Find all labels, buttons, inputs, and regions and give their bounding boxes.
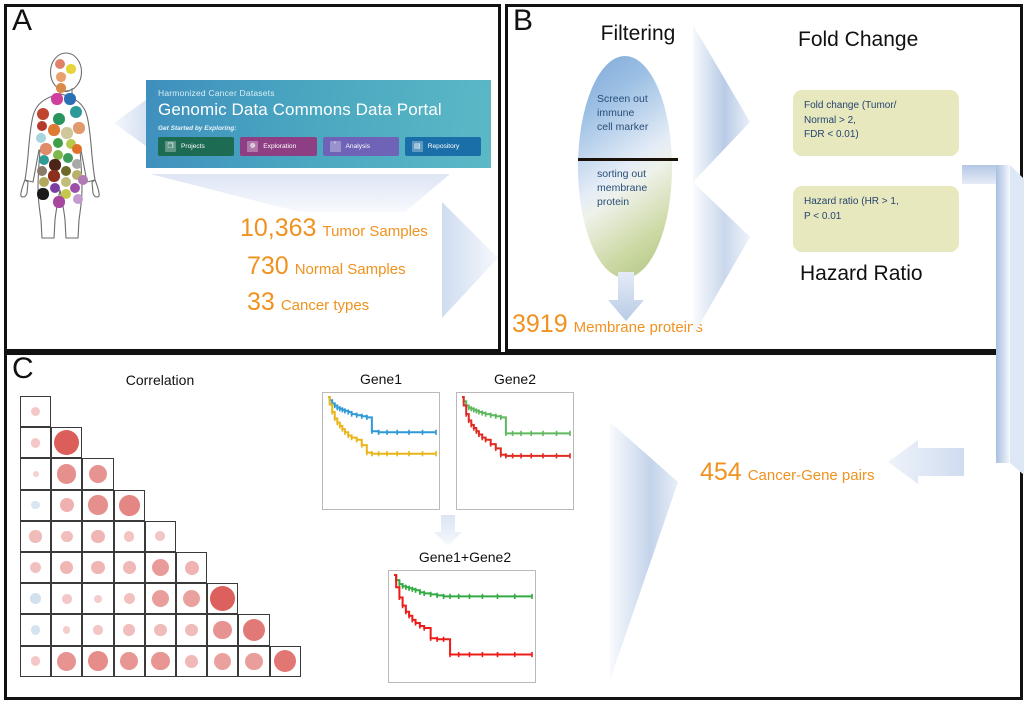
filtering-title: Filtering <box>578 22 698 46</box>
correlation-cell <box>51 427 82 458</box>
correlation-dot <box>155 531 165 541</box>
portal-button-label: Exploration <box>263 143 296 150</box>
correlation-cell <box>20 583 51 614</box>
km-title-gene2: Gene2 <box>456 371 574 387</box>
correlation-dot <box>88 495 107 514</box>
km-curve <box>394 575 532 596</box>
correlation-cell <box>51 521 82 552</box>
correlation-dot <box>245 653 262 670</box>
km-plot-gene2 <box>456 392 574 510</box>
km-curves <box>457 393 573 509</box>
correlation-dot <box>54 430 79 455</box>
correlation-dot <box>123 624 135 636</box>
correlation-cell <box>207 583 238 614</box>
correlation-dot <box>124 593 135 604</box>
cancer-site-dot <box>53 196 64 207</box>
correlation-dot <box>33 471 39 477</box>
chevron-filter-to-criteria <box>690 22 752 340</box>
portal-button-exploration[interactable]: ☸Exploration <box>240 137 316 156</box>
filtering-ellipse <box>578 56 672 278</box>
correlation-cell <box>20 396 51 427</box>
correlation-title: Correlation <box>80 372 240 388</box>
arrow-panel-a-to-b <box>440 200 500 320</box>
stat-line: 10,363Tumor Samples <box>240 214 428 243</box>
panel-letter-b: B <box>513 6 533 36</box>
correlation-dot <box>30 593 41 604</box>
correlation-cell <box>145 646 176 677</box>
correlation-cell <box>114 583 145 614</box>
correlation-cell <box>270 646 301 677</box>
portal-button-projects[interactable]: ❐Projects <box>158 137 234 156</box>
correlation-cell <box>51 552 82 583</box>
km-title-combined: Gene1+Gene2 <box>390 549 540 565</box>
correlation-dot <box>152 590 169 607</box>
portal-button-label: Analysis <box>346 143 371 150</box>
cancer-gene-pairs-label: Cancer-Gene pairs <box>748 467 875 484</box>
correlation-dot <box>63 626 70 633</box>
correlation-dot <box>120 652 139 671</box>
human-body-figure <box>14 52 126 242</box>
km-curves <box>389 571 535 682</box>
correlation-cell <box>82 646 113 677</box>
portal-button-analysis[interactable]: ⸯAnalysis <box>323 137 399 156</box>
cancer-site-dot <box>51 93 62 104</box>
membrane-protein-count: 3919 <box>512 310 568 338</box>
cancer-site-dot <box>48 124 59 135</box>
stat-number: 730 <box>247 252 289 280</box>
correlation-dot <box>31 438 40 447</box>
km-title-gene1: Gene1 <box>322 371 440 387</box>
correlation-dot <box>31 407 40 416</box>
correlation-cell <box>145 614 176 645</box>
correlation-dot <box>61 531 73 543</box>
correlation-dot <box>31 625 41 635</box>
cancer-gene-pairs-count: 454 <box>700 458 742 486</box>
correlation-cell <box>20 490 51 521</box>
km-curves <box>323 393 439 509</box>
correlation-cell <box>51 490 82 521</box>
cancer-site-dot <box>66 64 75 73</box>
correlation-cell <box>114 490 145 521</box>
cancer-site-dot <box>56 72 66 82</box>
arrow-banner-to-stats <box>150 172 450 214</box>
correlation-cell <box>176 614 207 645</box>
correlation-dot <box>89 465 108 484</box>
correlation-cell <box>51 646 82 677</box>
correlation-dot <box>94 595 102 603</box>
correlation-cell <box>145 521 176 552</box>
correlation-dot <box>123 561 136 574</box>
stat-number: 10,363 <box>240 214 316 242</box>
database-icon: ▤ <box>412 141 423 152</box>
correlation-cell <box>82 458 113 489</box>
correlation-dot <box>91 561 104 574</box>
correlation-cell <box>20 458 51 489</box>
correlation-cell <box>114 521 145 552</box>
correlation-dot <box>274 650 297 673</box>
km-curve <box>462 397 570 456</box>
copy-icon: ❐ <box>165 141 176 152</box>
ellipse-divider-line <box>578 158 678 161</box>
portal-explore-label: Get Started by Exploring: <box>158 125 481 132</box>
correlation-dot <box>185 624 197 636</box>
cancer-gene-pairs-result: 454Cancer-Gene pairs <box>700 458 874 487</box>
portal-subtitle: Harmonized Cancer Datasets <box>158 88 481 98</box>
cancer-site-dot <box>49 159 60 170</box>
correlation-cell <box>82 552 113 583</box>
correlation-dot <box>154 624 166 636</box>
cancer-site-dot <box>64 93 75 104</box>
correlation-dot <box>93 625 103 635</box>
portal-button-label: Projects <box>181 143 205 150</box>
stat-line: 33Cancer types <box>247 288 369 317</box>
ellipse-top-text: Screen outimmunecell marker <box>597 93 685 135</box>
correlation-dot <box>57 652 76 671</box>
correlation-cell <box>51 458 82 489</box>
correlation-dot <box>243 619 265 641</box>
hazard-ratio-heading: Hazard Ratio <box>800 262 923 286</box>
km-plot-gene1 <box>322 392 440 510</box>
correlation-dot <box>60 561 73 574</box>
correlation-cell <box>20 552 51 583</box>
correlation-cell <box>82 521 113 552</box>
correlation-cell <box>51 614 82 645</box>
correlation-dot <box>91 530 104 543</box>
cancer-site-dot <box>70 106 82 118</box>
fold-change-box: Fold change (Tumor/Normal > 2,FDR < 0.01… <box>793 90 959 156</box>
fold-change-heading: Fold Change <box>798 28 918 52</box>
correlation-dot <box>62 594 71 603</box>
portal-title: Genomic Data Commons Data Portal <box>158 100 481 120</box>
km-curve <box>394 575 532 655</box>
correlation-dot <box>151 652 170 671</box>
stat-label: Cancer types <box>281 297 369 314</box>
stat-label: Tumor Samples <box>322 223 427 240</box>
correlation-dot <box>152 559 170 577</box>
correlation-cell <box>114 614 145 645</box>
correlation-dot <box>29 530 41 542</box>
analysis-icon: ⸯ <box>330 141 341 152</box>
ellipse-bottom-text: sorting outmembraneprotein <box>597 168 685 210</box>
cancer-site-dot <box>73 122 84 133</box>
cancer-site-dot <box>40 143 51 154</box>
portal-button-repository[interactable]: ▤Repository <box>405 137 481 156</box>
correlation-dot <box>124 531 134 541</box>
correlation-dot <box>57 464 76 483</box>
arrow-into-pairs-result <box>888 440 966 496</box>
cancer-site-dot <box>53 113 65 125</box>
correlation-cell <box>51 583 82 614</box>
correlation-cell <box>114 646 145 677</box>
correlation-dot <box>31 501 39 509</box>
correlation-dot <box>31 656 40 665</box>
correlation-dot <box>88 651 108 671</box>
hazard-ratio-box: Hazard ratio (HR > 1,P < 0.01 <box>793 186 959 252</box>
correlation-dot <box>30 562 41 573</box>
cancer-site-dot <box>37 188 48 199</box>
correlation-cell <box>20 646 51 677</box>
chevron-panel-c <box>608 420 680 682</box>
correlation-dot <box>210 586 235 611</box>
cancer-site-dot <box>55 59 65 69</box>
correlation-cell <box>176 646 207 677</box>
correlation-dot <box>119 495 140 516</box>
correlation-cell <box>176 583 207 614</box>
correlation-cell <box>114 552 145 583</box>
correlation-cell <box>20 614 51 645</box>
correlation-dot <box>213 621 232 640</box>
correlation-dot <box>185 561 199 575</box>
membrane-protein-result: 3919Membrane proteins <box>512 310 703 339</box>
km-curve <box>328 397 436 454</box>
cancer-site-dot <box>56 83 66 93</box>
correlation-dot <box>214 653 231 670</box>
stat-line: 730Normal Samples <box>247 252 406 281</box>
correlation-cell <box>82 490 113 521</box>
gdc-portal-banner[interactable]: Harmonized Cancer Datasets Genomic Data … <box>146 80 491 168</box>
km-plot-combined <box>388 570 536 683</box>
correlation-dot <box>185 655 198 668</box>
correlation-cell <box>207 614 238 645</box>
stat-number: 33 <box>247 288 275 316</box>
correlation-cell <box>238 614 269 645</box>
cancer-site-dot <box>61 127 72 138</box>
correlation-cell <box>20 427 51 458</box>
membrane-protein-label: Membrane proteins <box>574 319 703 336</box>
panel-letter-a: A <box>12 6 32 36</box>
portal-button-label: Repository <box>428 143 460 150</box>
correlation-dot <box>183 590 200 607</box>
correlation-cell <box>207 646 238 677</box>
portal-button-row: ❐Projects☸ExplorationⸯAnalysis▤Repositor… <box>158 137 481 156</box>
arrow-genes-to-combined <box>433 515 463 547</box>
stat-label: Normal Samples <box>295 261 406 278</box>
correlation-cell <box>176 552 207 583</box>
km-curve <box>462 397 570 433</box>
correlation-cell <box>20 521 51 552</box>
figure-canvas: A B C Harmonized Cancer Datasets Genomic… <box>0 0 1027 704</box>
cancer-site-dot <box>48 170 59 181</box>
correlation-cell <box>145 583 176 614</box>
correlation-cell <box>145 552 176 583</box>
correlation-dot <box>60 498 74 512</box>
correlation-cell <box>82 614 113 645</box>
panel-letter-c: C <box>12 354 34 384</box>
km-curve <box>328 397 436 432</box>
correlation-cell <box>238 646 269 677</box>
correlation-cell <box>82 583 113 614</box>
molecule-icon: ☸ <box>247 141 258 152</box>
